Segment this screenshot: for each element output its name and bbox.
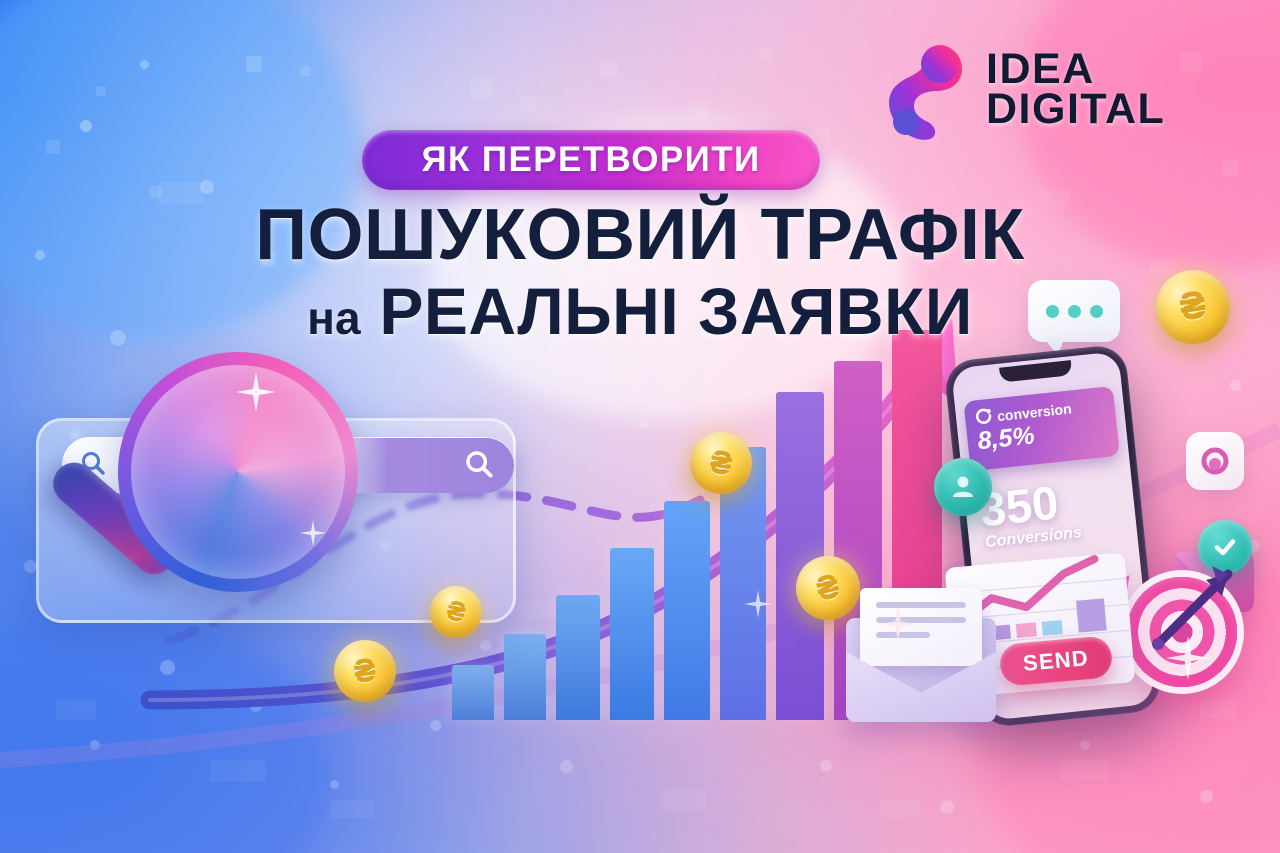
coin-hryvnia-icon: ₴ [1151, 265, 1235, 349]
chart-bar [610, 548, 654, 720]
chat-dot-icon [1068, 305, 1081, 318]
chat-bubble-icon [1028, 280, 1120, 342]
phone-notch [999, 360, 1072, 382]
banner-canvas: a ₴ ₴ ₴ ₴ ₴ [0, 0, 1280, 853]
chat-dot-icon [1090, 305, 1103, 318]
gradient-blob-logo-icon [884, 40, 964, 140]
send-button-label: SEND [1022, 645, 1090, 677]
logo-text-line-2: DIGITAL [986, 90, 1165, 130]
brand-logo[interactable]: IDEA DIGITAL [884, 40, 1165, 140]
open-envelope-icon [846, 618, 996, 722]
chat-dot-icon [1046, 305, 1059, 318]
user-avatar-icon [934, 458, 992, 516]
headline-badge-label: ЯК ПЕРЕТВОРИТИ [421, 140, 760, 180]
chart-bar [776, 392, 824, 720]
letter-sheet [860, 588, 982, 666]
chart-bar [664, 501, 710, 720]
headline-line-1: ПОШУКОВИЙ ТРАФІК [0, 198, 1280, 272]
chart-bar [556, 595, 600, 720]
magnifying-glass-icon [118, 352, 358, 592]
search-icon[interactable] [464, 449, 494, 484]
chart-bar [504, 634, 546, 720]
arrow-dart-icon [1140, 556, 1250, 666]
chart-bar [452, 665, 494, 720]
conversion-card: conversion 8,5% [963, 386, 1119, 471]
camera-app-icon[interactable] [1186, 432, 1244, 490]
headline-badge: ЯК ПЕРЕТВОРИТИ [362, 130, 820, 190]
coin-hryvnia-icon: ₴ [331, 637, 399, 705]
headline-line-2-small: на [307, 292, 360, 344]
